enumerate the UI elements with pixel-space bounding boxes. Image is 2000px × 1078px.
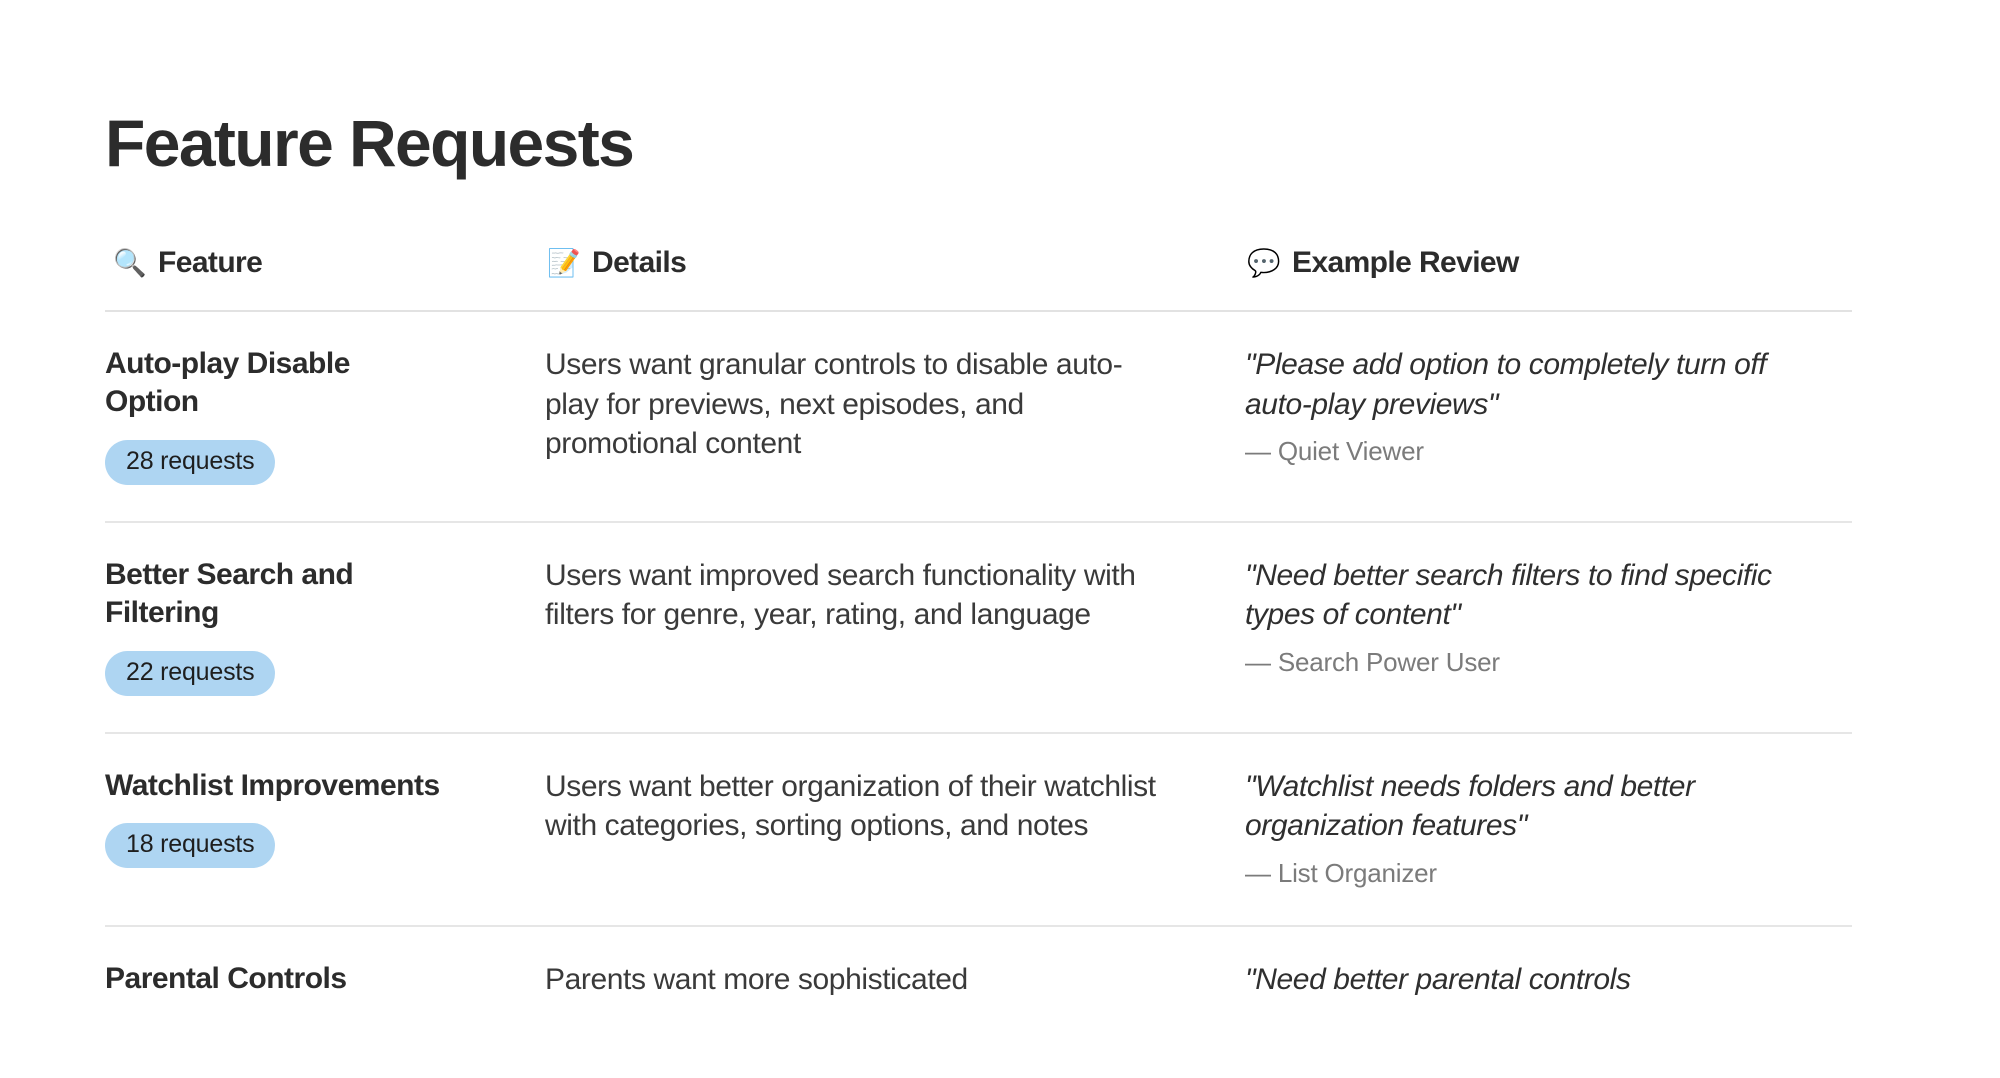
table-header: 🔍 Feature 📝 Details 💬 Example Review: [105, 246, 1852, 311]
review-cell: "Please add option to completely turn of…: [1245, 311, 1852, 522]
feature-name: Better Search and Filtering: [105, 556, 445, 633]
column-header-details-label: Details: [592, 246, 686, 280]
details-text: Parents want more sophisticated: [545, 960, 1170, 1000]
table-row: Watchlist Improvements 18 requests Users…: [105, 733, 1852, 926]
details-text: Users want improved search functionality…: [545, 556, 1170, 635]
column-header-details: 📝 Details: [545, 246, 1245, 311]
details-cell: Users want better organization of their …: [545, 733, 1245, 926]
feature-cell: Auto-play Disable Option 28 requests: [105, 311, 545, 522]
details-cell: Users want improved search functionality…: [545, 522, 1245, 733]
review-cell: "Watchlist needs folders and better orga…: [1245, 733, 1852, 926]
review-author: — List Organizer: [1245, 858, 1852, 889]
column-header-example-review: 💬 Example Review: [1245, 246, 1852, 311]
review-cell: "Need better search filters to find spec…: [1245, 522, 1852, 733]
feature-requests-table: 🔍 Feature 📝 Details 💬 Example Review: [105, 246, 1852, 999]
review-quote: "Watchlist needs folders and better orga…: [1245, 767, 1825, 846]
details-cell: Users want granular controls to disable …: [545, 311, 1245, 522]
review-quote: "Need better search filters to find spec…: [1245, 556, 1825, 635]
column-header-feature: 🔍 Feature: [105, 246, 545, 311]
review-quote: "Please add option to completely turn of…: [1245, 345, 1825, 424]
feature-requests-page: Feature Requests 🔍 Feature 📝 Details: [0, 0, 2000, 1078]
table-header-row: 🔍 Feature 📝 Details 💬 Example Review: [105, 246, 1852, 311]
column-header-example-review-label: Example Review: [1292, 246, 1519, 280]
memo-icon: 📝: [547, 250, 580, 277]
magnifying-glass-icon: 🔍: [113, 250, 146, 277]
request-count-badge: 22 requests: [105, 651, 275, 696]
page-title: Feature Requests: [105, 0, 1895, 176]
request-count-badge: 28 requests: [105, 440, 275, 485]
column-header-feature-label: Feature: [158, 246, 262, 280]
table-row: Better Search and Filtering 22 requests …: [105, 522, 1852, 733]
review-cell: "Need better parental controls: [1245, 926, 1852, 1000]
review-author: — Search Power User: [1245, 647, 1852, 678]
feature-cell: Better Search and Filtering 22 requests: [105, 522, 545, 733]
feature-name: Watchlist Improvements: [105, 767, 445, 805]
review-quote: "Need better parental controls: [1245, 960, 1825, 1000]
speech-balloon-icon: 💬: [1247, 250, 1280, 277]
request-count-badge: 18 requests: [105, 823, 275, 868]
table-row: Auto-play Disable Option 28 requests Use…: [105, 311, 1852, 522]
feature-cell: Parental Controls: [105, 926, 545, 1000]
details-text: Users want better organization of their …: [545, 767, 1170, 846]
details-cell: Parents want more sophisticated: [545, 926, 1245, 1000]
review-author: — Quiet Viewer: [1245, 436, 1852, 467]
feature-cell: Watchlist Improvements 18 requests: [105, 733, 545, 926]
feature-name: Auto-play Disable Option: [105, 345, 445, 422]
table-body: Auto-play Disable Option 28 requests Use…: [105, 311, 1852, 999]
feature-name: Parental Controls: [105, 960, 445, 998]
table-row: Parental Controls Parents want more soph…: [105, 926, 1852, 1000]
details-text: Users want granular controls to disable …: [545, 345, 1170, 464]
